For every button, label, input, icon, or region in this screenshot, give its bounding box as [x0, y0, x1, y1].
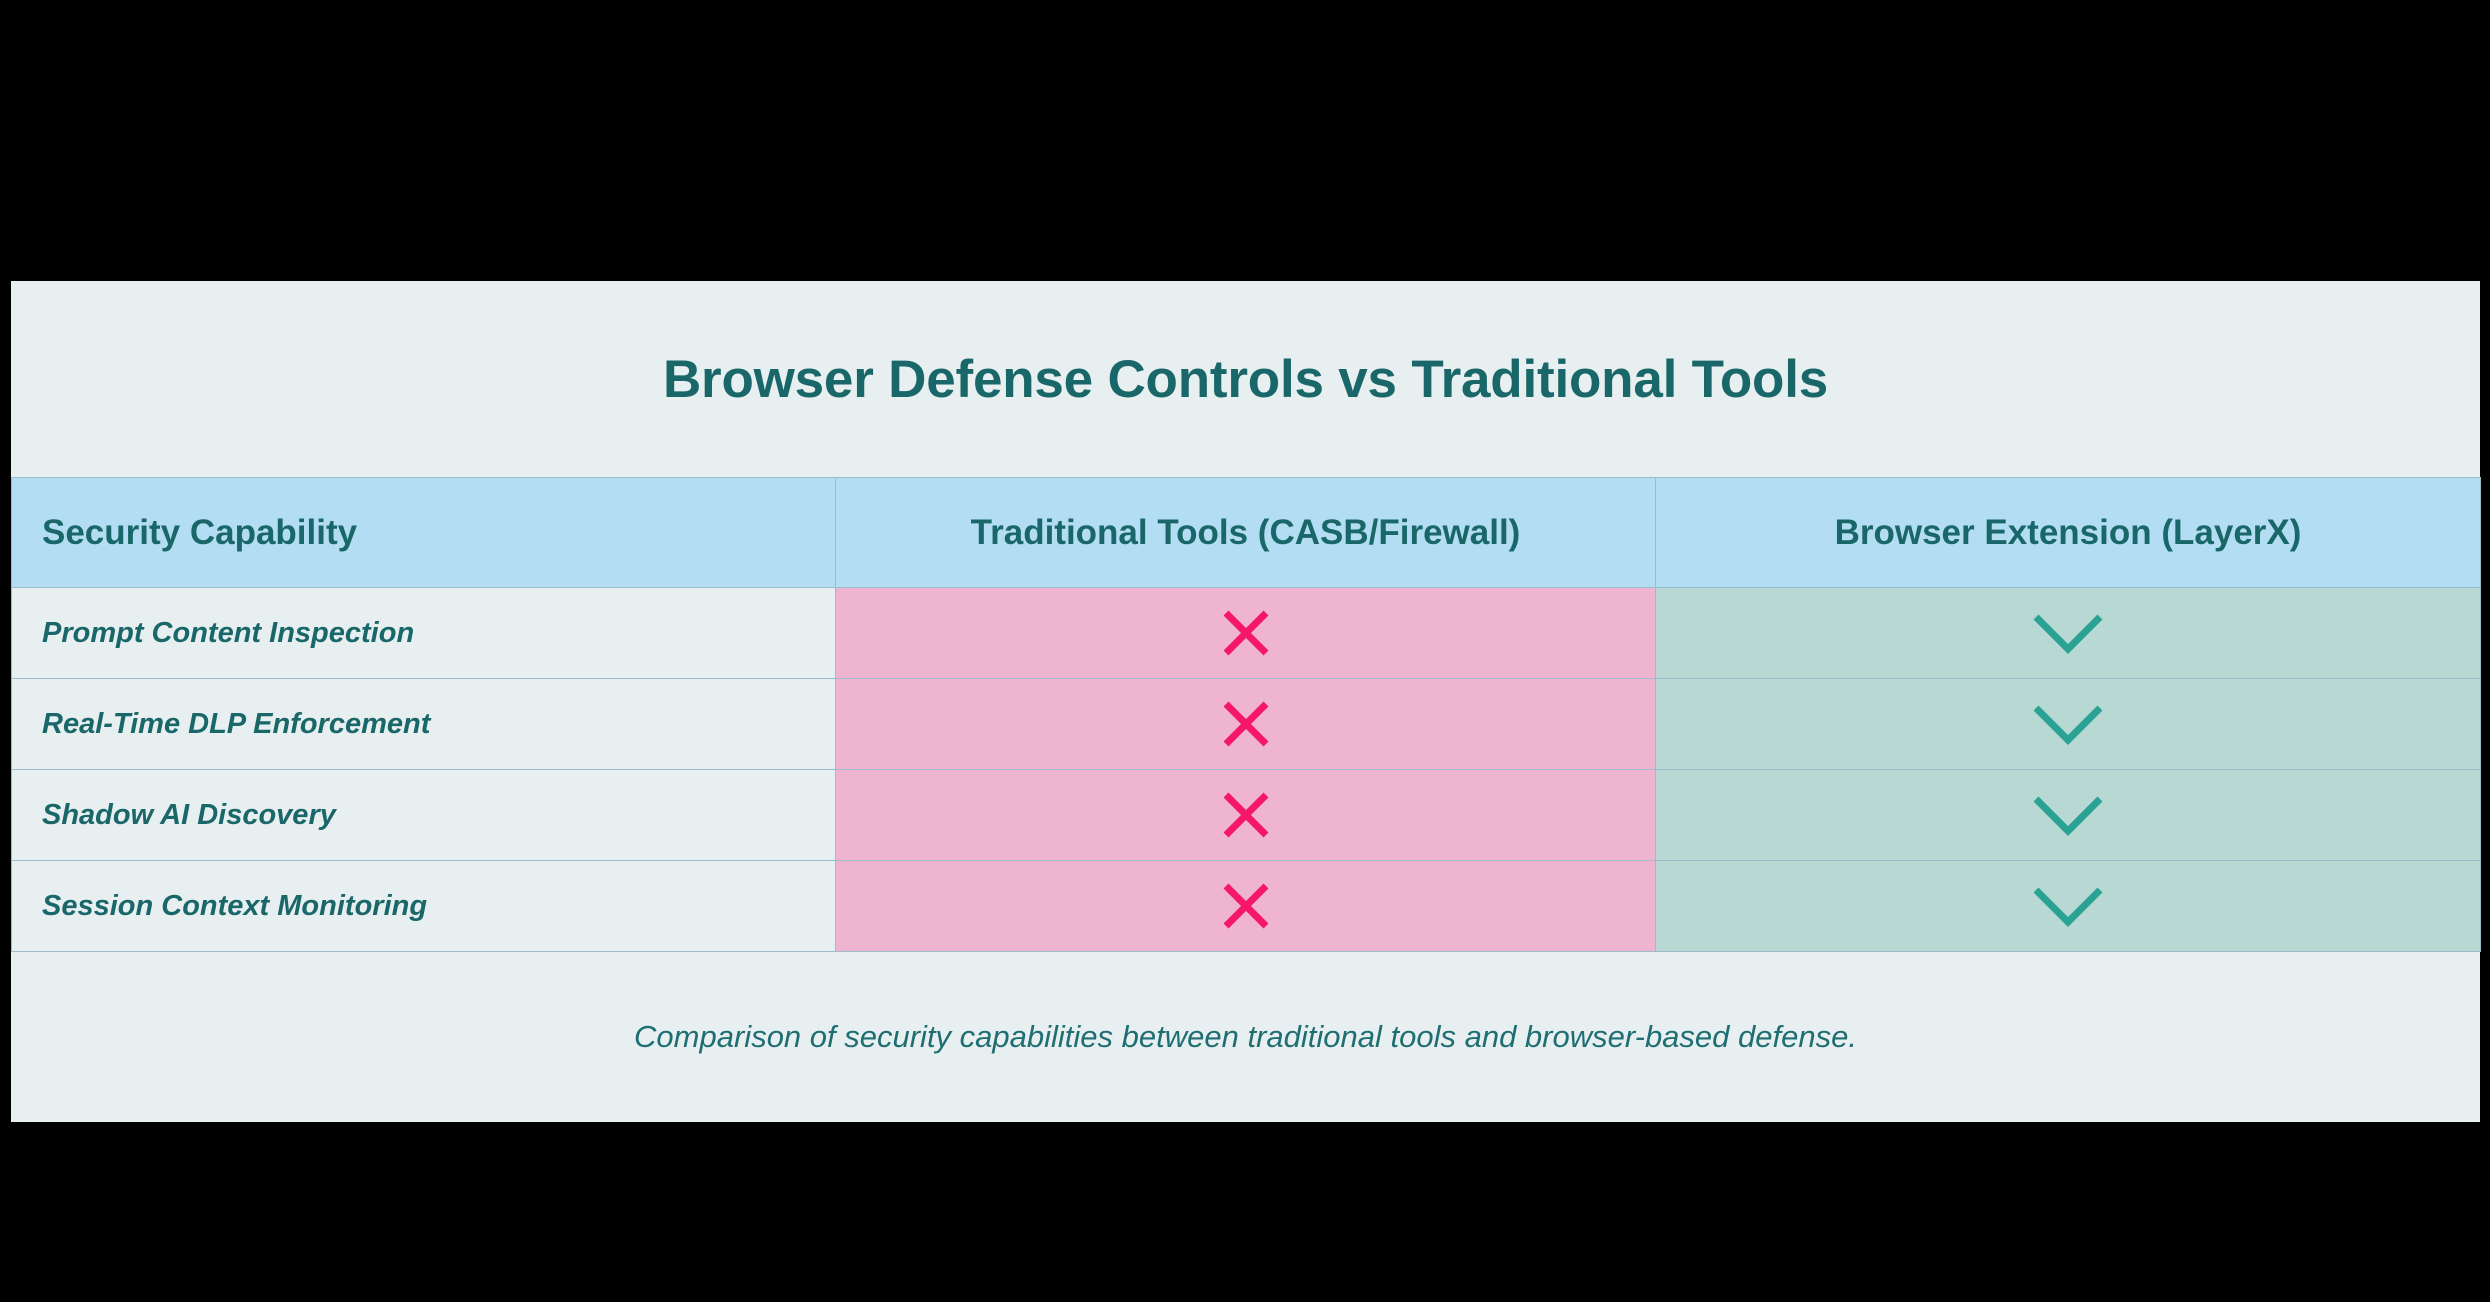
comparison-table: Security Capability Traditional Tools (C… [11, 477, 2481, 952]
table-caption: Comparison of security capabilities betw… [634, 1019, 1857, 1055]
table-row: Prompt Content Inspection [12, 588, 2481, 679]
browser-extension-cell [1656, 679, 2481, 770]
cross-icon [1216, 785, 1276, 845]
capability-label: Session Context Monitoring [12, 861, 836, 952]
table-row: Session Context Monitoring [12, 861, 2481, 952]
browser-extension-cell [1656, 588, 2481, 679]
cross-icon [1216, 694, 1276, 754]
browser-extension-cell [1656, 861, 2481, 952]
column-header-traditional-tools: Traditional Tools (CASB/Firewall) [836, 478, 1656, 588]
check-icon [2031, 609, 2105, 657]
browser-extension-cell [1656, 770, 2481, 861]
traditional-tools-cell [836, 679, 1656, 770]
traditional-tools-cell [836, 770, 1656, 861]
cross-icon [1216, 876, 1276, 936]
table-body: Prompt Content Inspection [12, 588, 2481, 952]
check-icon [2031, 700, 2105, 748]
check-icon [2031, 882, 2105, 930]
column-header-capability: Security Capability [12, 478, 836, 588]
check-icon [2031, 791, 2105, 839]
table-row: Real-Time DLP Enforcement [12, 679, 2481, 770]
table-header-row: Security Capability Traditional Tools (C… [12, 478, 2481, 588]
cross-icon [1216, 603, 1276, 663]
capability-label: Shadow AI Discovery [12, 770, 836, 861]
table-header: Security Capability Traditional Tools (C… [12, 478, 2481, 588]
traditional-tools-cell [836, 861, 1656, 952]
page-title: Browser Defense Controls vs Traditional … [663, 349, 1828, 410]
table-row: Shadow AI Discovery [12, 770, 2481, 861]
comparison-card: Browser Defense Controls vs Traditional … [11, 281, 2480, 1122]
capability-label: Prompt Content Inspection [12, 588, 836, 679]
column-header-browser-extension: Browser Extension (LayerX) [1656, 478, 2481, 588]
capability-label: Real-Time DLP Enforcement [12, 679, 836, 770]
title-region: Browser Defense Controls vs Traditional … [11, 281, 2480, 477]
traditional-tools-cell [836, 588, 1656, 679]
caption-region: Comparison of security capabilities betw… [11, 952, 2480, 1122]
